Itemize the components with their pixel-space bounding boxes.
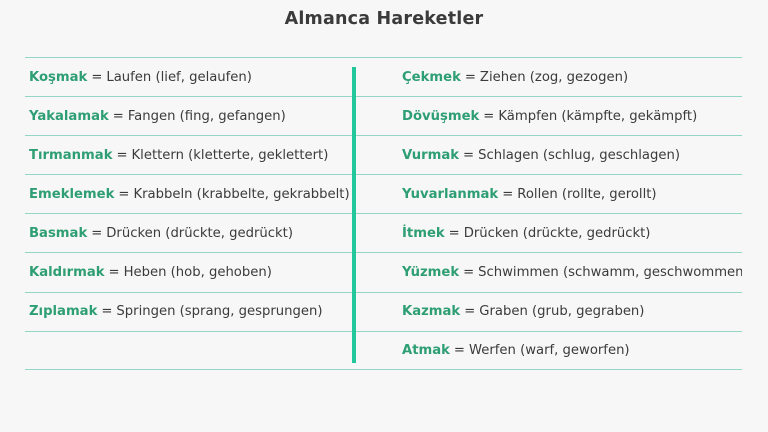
vocab-entry-left: Tırmanmak = Klettern (kletterte, geklett… bbox=[25, 136, 352, 174]
equals-separator: = bbox=[498, 187, 517, 202]
vocab-entry-right: Çekmek = Ziehen (zog, gezogen) bbox=[352, 58, 742, 96]
turkish-term: Emeklemek bbox=[29, 187, 114, 202]
vocab-entry-left: Koşmak = Laufen (lief, gelaufen) bbox=[25, 58, 352, 96]
page-title: Almanca Hareketler bbox=[0, 9, 768, 29]
vocab-entry-right: Yüzmek = Schwimmen (schwamm, geschwommen… bbox=[352, 253, 742, 291]
german-translation: Schlagen (schlug, geschlagen) bbox=[478, 148, 680, 163]
equals-separator: = bbox=[459, 265, 478, 280]
equals-separator: = bbox=[114, 187, 133, 202]
turkish-term: Basmak bbox=[29, 226, 87, 241]
equals-separator: = bbox=[97, 304, 116, 319]
turkish-term: Tırmanmak bbox=[29, 148, 112, 163]
table-row: Basmak = Drücken (drückte, gedrückt) İtm… bbox=[25, 213, 742, 252]
german-translation: Schwimmen (schwamm, geschwommen) bbox=[478, 265, 742, 280]
turkish-term: İtmek bbox=[402, 226, 445, 241]
table-row: Koşmak = Laufen (lief, gelaufen) Çekmek … bbox=[25, 57, 742, 96]
turkish-term: Vurmak bbox=[402, 148, 459, 163]
vocab-entry-right: İtmek = Drücken (drückte, gedrückt) bbox=[352, 214, 742, 252]
equals-separator: = bbox=[479, 109, 498, 124]
german-translation: Laufen (lief, gelaufen) bbox=[106, 70, 252, 85]
german-translation: Krabbeln (krabbelte, gekrabbelt) bbox=[133, 187, 349, 202]
german-translation: Springen (sprang, gesprungen) bbox=[116, 304, 322, 319]
table-row: = Atmak = Werfen (warf, geworfen) bbox=[25, 331, 742, 370]
turkish-term: Yakalamak bbox=[29, 109, 109, 124]
table-row: Emeklemek = Krabbeln (krabbelte, gekrabb… bbox=[25, 174, 742, 213]
vocab-entry-left-empty: = bbox=[25, 332, 352, 369]
german-translation: Graben (grub, gegraben) bbox=[479, 304, 644, 319]
vocabulary-table: Koşmak = Laufen (lief, gelaufen) Çekmek … bbox=[25, 57, 742, 371]
turkish-term: Yuvarlanmak bbox=[402, 187, 498, 202]
vocab-entry-left: Zıplamak = Springen (sprang, gesprungen) bbox=[25, 293, 352, 331]
equals-separator: = bbox=[450, 343, 469, 358]
german-translation: Rollen (rollte, gerollt) bbox=[517, 187, 656, 202]
equals-separator: = bbox=[112, 148, 131, 163]
turkish-term: Koşmak bbox=[29, 70, 87, 85]
equals-separator: = bbox=[461, 70, 480, 85]
vocab-entry-right: Dövüşmek = Kämpfen (kämpfte, gekämpft) bbox=[352, 97, 742, 135]
equals-separator: = bbox=[87, 226, 106, 241]
equals-separator: = bbox=[105, 265, 124, 280]
vocab-entry-right: Kazmak = Graben (grub, gegraben) bbox=[352, 293, 742, 331]
table-row: Tırmanmak = Klettern (kletterte, geklett… bbox=[25, 135, 742, 174]
turkish-term: Atmak bbox=[402, 343, 450, 358]
table-row: Zıplamak = Springen (sprang, gesprungen)… bbox=[25, 292, 742, 331]
vocab-entry-right: Yuvarlanmak = Rollen (rollte, gerollt) bbox=[352, 175, 742, 213]
equals-separator: = bbox=[459, 148, 478, 163]
german-translation: Klettern (kletterte, geklettert) bbox=[132, 148, 329, 163]
vocab-entry-right: Atmak = Werfen (warf, geworfen) bbox=[352, 332, 742, 369]
german-translation: Kämpfen (kämpfte, gekämpft) bbox=[498, 109, 697, 124]
equals-separator: = bbox=[109, 109, 128, 124]
vocab-entry-left: Yakalamak = Fangen (fing, gefangen) bbox=[25, 97, 352, 135]
vocab-entry-left: Basmak = Drücken (drückte, gedrückt) bbox=[25, 214, 352, 252]
turkish-term: Kazmak bbox=[402, 304, 460, 319]
table-row: Kaldırmak = Heben (hob, gehoben) Yüzmek … bbox=[25, 252, 742, 291]
turkish-term: Kaldırmak bbox=[29, 265, 105, 280]
equals-separator: = bbox=[460, 304, 479, 319]
german-translation: Drücken (drückte, gedrückt) bbox=[106, 226, 293, 241]
german-translation: Drücken (drückte, gedrückt) bbox=[464, 226, 651, 241]
vocab-entry-left: Emeklemek = Krabbeln (krabbelte, gekrabb… bbox=[25, 175, 352, 213]
turkish-term: Çekmek bbox=[402, 70, 461, 85]
equals-separator: = bbox=[445, 226, 464, 241]
turkish-term: Zıplamak bbox=[29, 304, 97, 319]
vocab-entry-right: Vurmak = Schlagen (schlug, geschlagen) bbox=[352, 136, 742, 174]
vocab-entry-left: Kaldırmak = Heben (hob, gehoben) bbox=[25, 253, 352, 291]
german-translation: Fangen (fing, gefangen) bbox=[128, 109, 286, 124]
table-row: Yakalamak = Fangen (fing, gefangen) Dövü… bbox=[25, 96, 742, 135]
german-translation: Werfen (warf, geworfen) bbox=[469, 343, 630, 358]
turkish-term: Yüzmek bbox=[402, 265, 459, 280]
german-translation: Ziehen (zog, gezogen) bbox=[480, 70, 628, 85]
column-divider bbox=[352, 67, 356, 363]
turkish-term: Dövüşmek bbox=[402, 109, 479, 124]
german-translation: Heben (hob, gehoben) bbox=[124, 265, 272, 280]
equals-separator: = bbox=[87, 70, 106, 85]
